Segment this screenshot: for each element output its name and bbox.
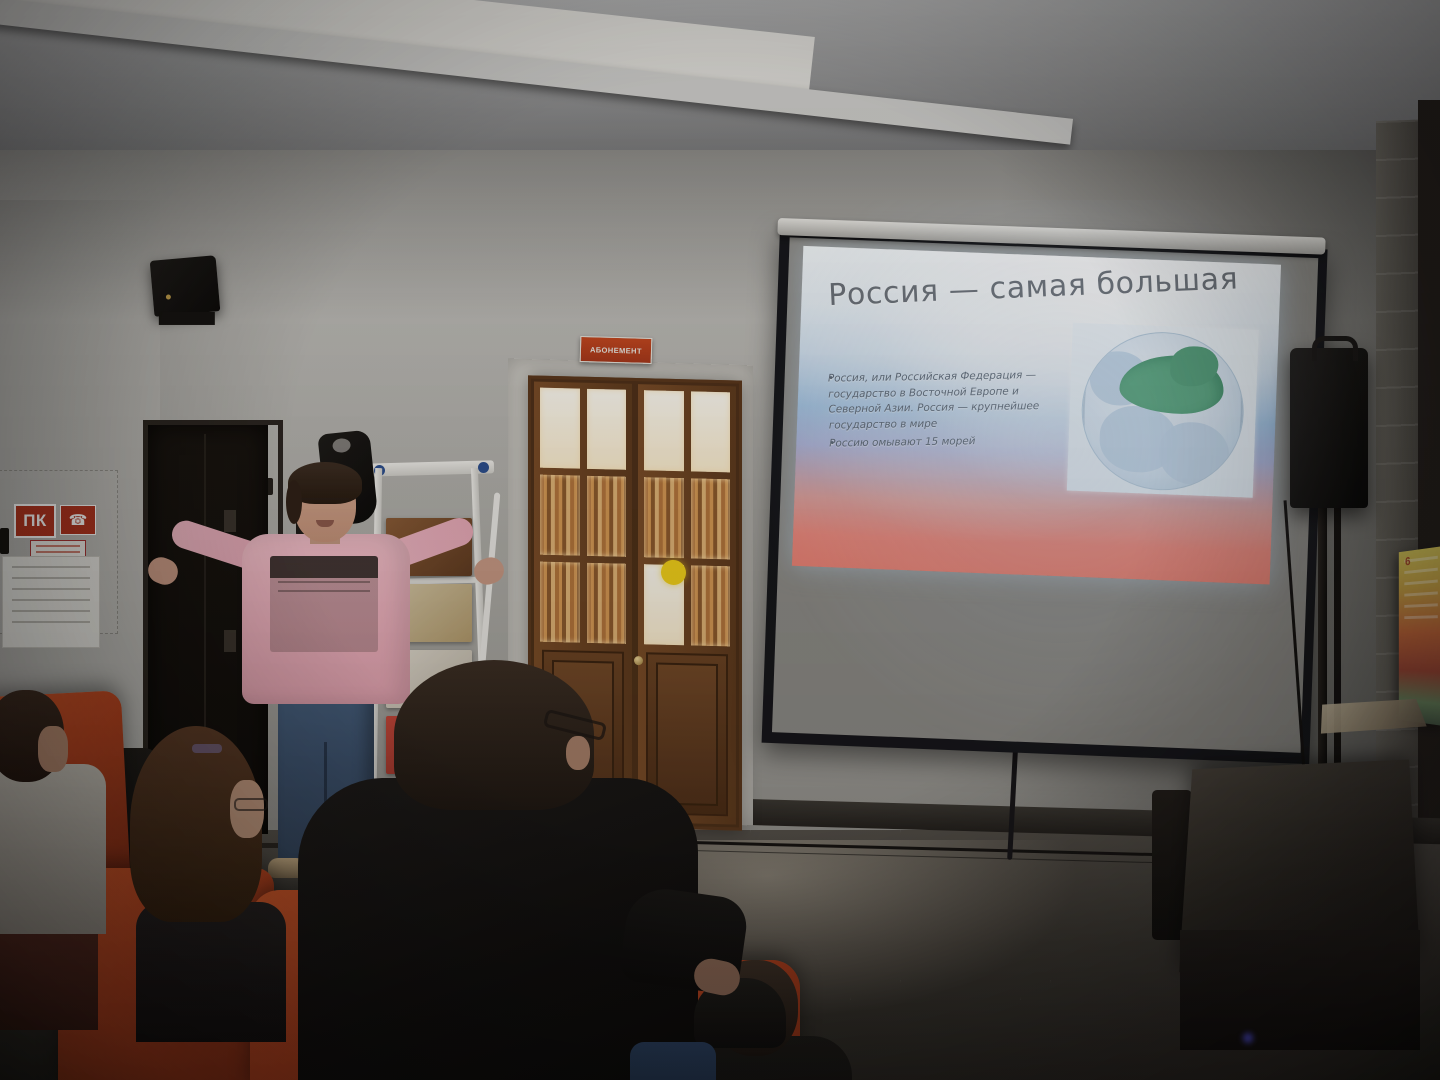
door-pane bbox=[540, 388, 580, 469]
poster-number: 6 bbox=[1405, 554, 1410, 568]
door-pane bbox=[691, 391, 731, 472]
globe-icon bbox=[1079, 329, 1247, 493]
door-leaf-right[interactable] bbox=[635, 381, 739, 828]
fire-cabinet-sign-label: ПК bbox=[23, 511, 47, 531]
wall-speaker bbox=[150, 255, 221, 317]
audience-glasses-icon bbox=[234, 798, 268, 811]
slide-title: Россия — самая большая bbox=[828, 261, 1259, 314]
audience-ear bbox=[566, 736, 590, 770]
door-pane bbox=[691, 478, 731, 559]
fire-phone-icon: ☎ bbox=[60, 505, 96, 535]
audience-jeans bbox=[630, 1042, 716, 1080]
door-pane bbox=[644, 477, 684, 558]
door-pane bbox=[540, 475, 580, 556]
wall-notice-sheet bbox=[2, 556, 100, 648]
presenter-hand-right bbox=[471, 554, 508, 588]
door-pane bbox=[587, 563, 627, 644]
audience-face bbox=[38, 726, 68, 772]
door-glass-panes-right bbox=[644, 390, 730, 646]
audience-hair bbox=[394, 660, 594, 810]
abonement-door-sign: АБОНЕМЕНТ bbox=[580, 336, 653, 364]
bag-highlight bbox=[332, 438, 351, 454]
door-pane bbox=[644, 390, 684, 471]
abonement-sign-label: АБОНЕМЕНТ bbox=[590, 345, 642, 355]
presentation-slide: Россия — самая большая Россия, или Росси… bbox=[792, 246, 1281, 585]
slide-bullet-list: Россия, или Российская Федерация — госуд… bbox=[819, 368, 1072, 456]
light-switch[interactable] bbox=[0, 528, 9, 554]
projection-screen[interactable]: Россия — самая большая Россия, или Росси… bbox=[762, 228, 1328, 764]
projection-screen-surface: Россия — самая большая Россия, или Росси… bbox=[772, 237, 1318, 752]
blue-led-indicator-icon bbox=[1240, 1030, 1256, 1046]
fire-cabinet-sign: ПК bbox=[14, 504, 56, 538]
speaker-led-icon bbox=[166, 294, 171, 299]
tshirt-graphic-print bbox=[270, 556, 378, 652]
speaker-handle-icon bbox=[1312, 336, 1358, 361]
brick-column-shadow bbox=[1418, 100, 1440, 860]
audience-torso bbox=[0, 764, 106, 934]
slide-bullet: Россию омывают 15 морей bbox=[829, 433, 1071, 453]
presenter-hair-side bbox=[286, 480, 302, 524]
slide-bullet: Россия, или Российская Федерация — госуд… bbox=[828, 368, 1071, 434]
door-pane bbox=[587, 389, 627, 470]
yellow-circle-sticker-icon bbox=[661, 560, 686, 586]
fire-phone-glyph: ☎ bbox=[69, 513, 88, 528]
speaker-bracket bbox=[159, 312, 215, 325]
floor-speaker bbox=[1290, 348, 1368, 508]
presenter-glasses-icon bbox=[301, 498, 349, 510]
door-glass-panes-left bbox=[540, 388, 626, 644]
door-handle[interactable] bbox=[634, 656, 643, 665]
door-pane bbox=[587, 476, 627, 557]
presenter-tshirt bbox=[242, 534, 410, 704]
table-front-edge bbox=[1180, 930, 1420, 1050]
door-pane bbox=[691, 565, 731, 646]
hair-clip-icon bbox=[192, 744, 222, 753]
door-panel-inset bbox=[656, 663, 718, 806]
audience-torso bbox=[136, 902, 286, 1042]
door-pane bbox=[540, 562, 580, 643]
photo-scene: ПК ☎ bbox=[0, 0, 1440, 1080]
slide-globe-image bbox=[1067, 323, 1259, 498]
